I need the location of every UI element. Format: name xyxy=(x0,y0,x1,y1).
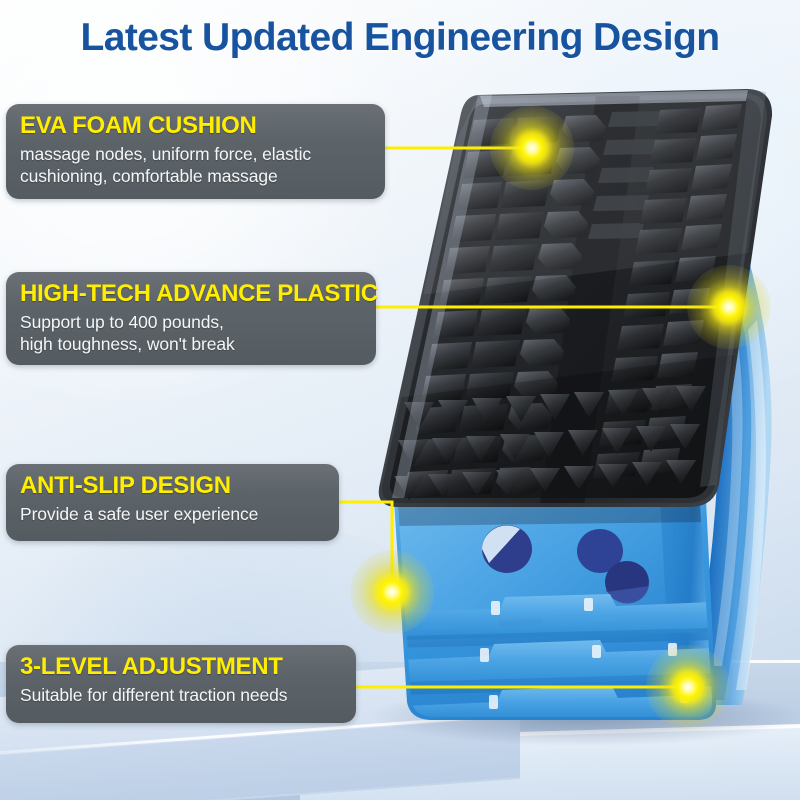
page-title: Latest Updated Engineering Design xyxy=(0,16,800,60)
callout-body: Suitable for different traction needs xyxy=(20,684,342,706)
callout-title: 3-LEVEL ADJUSTMENT xyxy=(20,654,342,681)
massage-pad xyxy=(379,89,772,510)
callout-title: EVA FOAM CUSHION xyxy=(20,113,371,140)
infographic-canvas: Latest Updated Engineering Design EVA FO… xyxy=(0,0,800,800)
callout-high-tech-advance-plastic[interactable]: HIGH-TECH ADVANCE PLASTIC Support up to … xyxy=(6,272,376,365)
callout-eva-foam-cushion[interactable]: EVA FOAM CUSHION massage nodes, uniform … xyxy=(6,104,385,199)
product-base xyxy=(394,500,721,721)
callout-body: Provide a safe user experience xyxy=(20,503,325,525)
callout-title: ANTI-SLIP DESIGN xyxy=(20,473,325,500)
callout-title: HIGH-TECH ADVANCE PLASTIC xyxy=(20,281,362,308)
callout-anti-slip-design[interactable]: ANTI-SLIP DESIGN Provide a safe user exp… xyxy=(6,464,339,541)
callout-body: massage nodes, uniform force, elastic cu… xyxy=(20,143,371,187)
callout-body: Support up to 400 pounds, high toughness… xyxy=(20,311,362,355)
callout-3-level-adjustment[interactable]: 3-LEVEL ADJUSTMENT Suitable for differen… xyxy=(6,645,356,723)
